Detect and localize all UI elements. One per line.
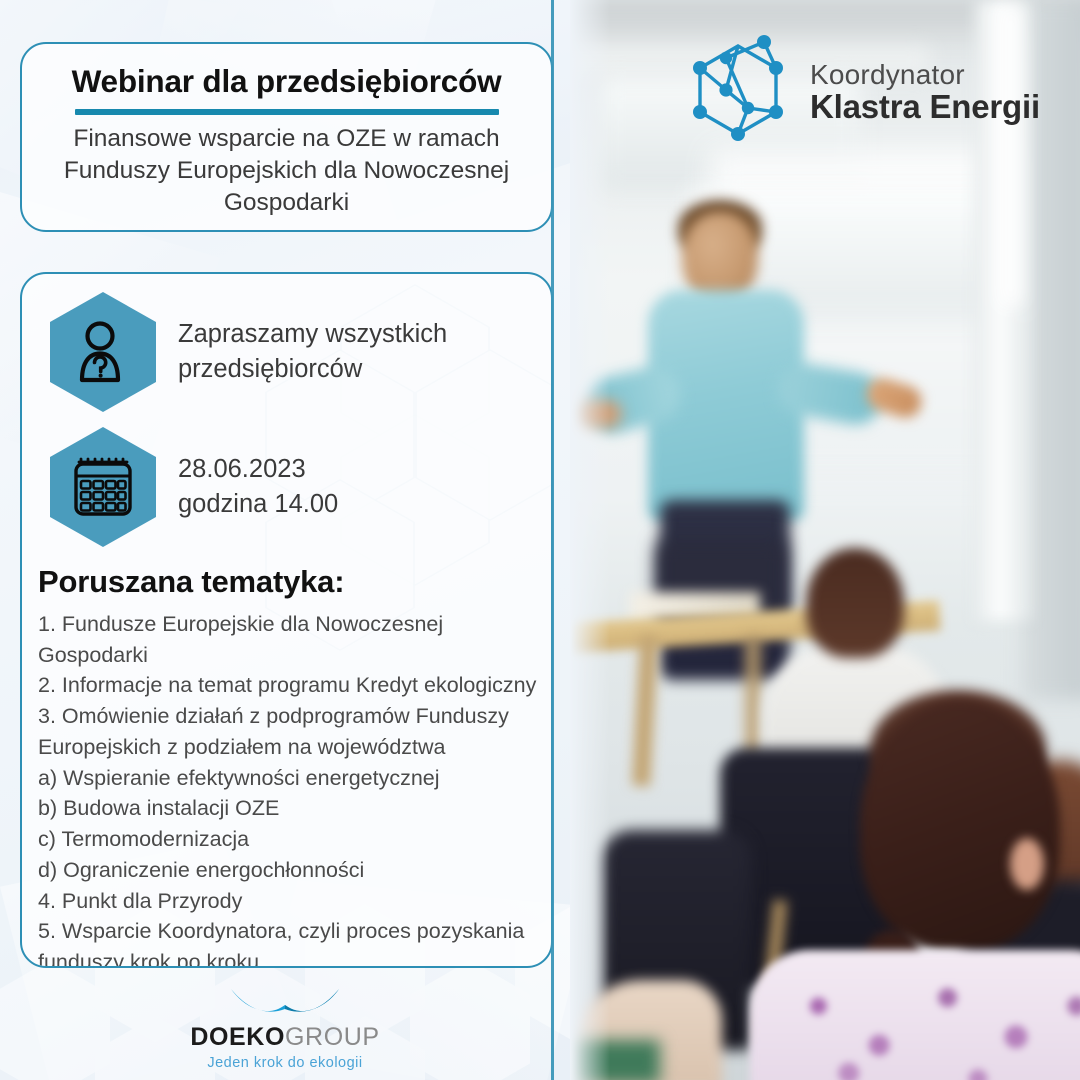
list-item: 5. Wsparcie Koordynatora, czyli proces p…	[38, 916, 538, 968]
agenda-heading: Poruszana tematyka:	[38, 564, 344, 600]
date-text: 28.06.2023 godzina 14.00	[178, 452, 338, 521]
date-line: 28.06.2023	[178, 452, 338, 487]
title-accent-rule	[75, 109, 499, 115]
audience-text: Zapraszamy wszystkich przedsiębiorców	[178, 317, 447, 386]
doeko-name: DOEKOGROUP	[0, 1023, 570, 1052]
seminar-photo	[570, 0, 1080, 1080]
list-item: c) Termomodernizacja	[38, 824, 538, 855]
doeko-name-bold: DOEKO	[190, 1023, 285, 1051]
klastra-line-1: Koordynator	[810, 61, 1040, 89]
left-content-panel: Webinar dla przedsiębiorców Finansowe ws…	[0, 0, 570, 1080]
calendar-icon	[50, 427, 156, 547]
list-item: 2. Informacje na temat programu Kredyt e…	[38, 670, 538, 701]
subtitle: Finansowe wsparcie na OZE w ramach Fundu…	[44, 123, 529, 220]
doeko-name-light: GROUP	[285, 1023, 380, 1051]
audience-row: Zapraszamy wszystkich przedsiębiorców	[50, 292, 447, 412]
audience-line: przedsiębiorców	[178, 352, 447, 387]
panel-divider	[551, 0, 554, 1080]
person-question-icon	[50, 292, 156, 412]
wing-swoosh-icon	[229, 985, 341, 1019]
hexagon-network-icon	[686, 34, 798, 146]
subtitle-line: Gospodarki	[224, 189, 349, 216]
list-item: a) Wspieranie efektywności energetycznej	[38, 763, 538, 794]
date-line: godzina 14.00	[178, 487, 338, 522]
list-item: b) Budowa instalacji OZE	[38, 793, 538, 824]
list-item: 3. Omówienie działań z podprogramów Fund…	[38, 701, 538, 762]
list-item: d) Ograniczenie energochłonności	[38, 855, 538, 886]
list-item: 1. Fundusze Europejskie dla Nowoczesnej …	[38, 609, 538, 670]
audience-line: Zapraszamy wszystkich	[178, 317, 447, 352]
page-title: Webinar dla przedsiębiorców	[44, 64, 529, 99]
date-row: 28.06.2023 godzina 14.00	[50, 427, 338, 547]
klastra-line-2: Klastra Energii	[810, 89, 1040, 126]
webinar-poster: Webinar dla przedsiębiorców Finansowe ws…	[0, 0, 1080, 1080]
doeko-group-logo: DOEKOGROUP Jeden krok do ekologii	[0, 985, 570, 1071]
title-card: Webinar dla przedsiębiorców Finansowe ws…	[20, 42, 553, 232]
list-item: 4. Punkt dla Przyrody	[38, 886, 538, 917]
klastra-energii-logo: Koordynator Klastra Energii	[686, 34, 1040, 146]
doeko-tagline: Jeden krok do ekologii	[0, 1055, 570, 1071]
subtitle-line: Funduszy Europejskich dla Nowoczesnej	[64, 157, 509, 184]
agenda-list: 1. Fundusze Europejskie dla Nowoczesnej …	[38, 609, 538, 968]
subtitle-line: Finansowe wsparcie na OZE w ramach	[73, 125, 499, 152]
details-card: Zapraszamy wszystkich przedsiębiorców	[20, 272, 553, 968]
